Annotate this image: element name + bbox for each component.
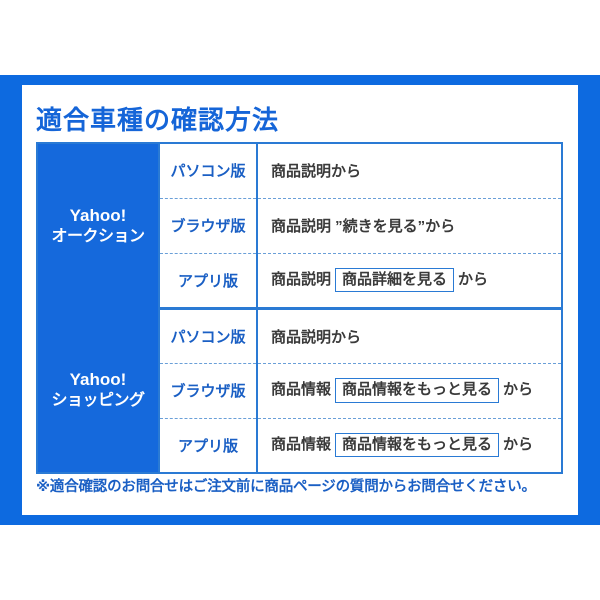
table-row: Yahoo! ショッピング パソコン版 商品説明から: [37, 308, 562, 363]
detail-cell: 商品情報商品情報をもっと見るから: [257, 363, 562, 418]
detail-suffix: から: [503, 436, 533, 453]
detail-prefix: 商品説明: [271, 271, 331, 288]
table-row: Yahoo! オークション パソコン版 商品説明から: [37, 143, 562, 198]
platform-label: パソコン版: [159, 308, 257, 363]
brand-cell-shopping: Yahoo! ショッピング: [37, 308, 159, 473]
brand-name: Yahoo!: [38, 370, 158, 390]
detail-suffix: から: [503, 381, 533, 398]
brand-name: Yahoo!: [38, 206, 158, 226]
detail-cell: 商品説明から: [257, 143, 562, 198]
boxed-button-label[interactable]: 商品情報をもっと見る: [335, 378, 499, 402]
brand-cell-auction: Yahoo! オークション: [37, 143, 159, 308]
platform-label: ブラウザ版: [159, 198, 257, 253]
detail-cell: 商品情報商品情報をもっと見るから: [257, 418, 562, 473]
footer-note: ※適合確認のお問合せはご注文前に商品ページの質問からお問合せください。: [36, 475, 556, 496]
detail-cell: 商品説明 ”続きを見る”から: [257, 198, 562, 253]
compatibility-table: Yahoo! オークション パソコン版 商品説明から ブラウザ版 商品説明 ”続…: [36, 142, 563, 474]
info-panel: 適合車種の確認方法 Yahoo! オークション パソコン版 商品説明から ブラウ…: [22, 85, 578, 515]
platform-label: ブラウザ版: [159, 363, 257, 418]
platform-label: パソコン版: [159, 143, 257, 198]
brand-service: ショッピング: [38, 391, 158, 410]
boxed-button-label[interactable]: 商品情報をもっと見る: [335, 433, 499, 457]
platform-label: アプリ版: [159, 418, 257, 473]
platform-label: アプリ版: [159, 253, 257, 308]
detail-prefix: 商品説明から: [271, 329, 361, 346]
page-title: 適合車種の確認方法: [36, 100, 279, 137]
detail-prefix: 商品説明 ”続きを見る”から: [271, 218, 455, 235]
detail-prefix: 商品説明から: [271, 163, 361, 180]
detail-suffix: から: [458, 271, 488, 288]
detail-cell: 商品説明から: [257, 308, 562, 363]
boxed-button-label[interactable]: 商品詳細を見る: [335, 268, 454, 292]
detail-prefix: 商品情報: [271, 436, 331, 453]
detail-prefix: 商品情報: [271, 381, 331, 398]
brand-service: オークション: [38, 227, 158, 246]
detail-cell: 商品説明商品詳細を見るから: [257, 253, 562, 308]
